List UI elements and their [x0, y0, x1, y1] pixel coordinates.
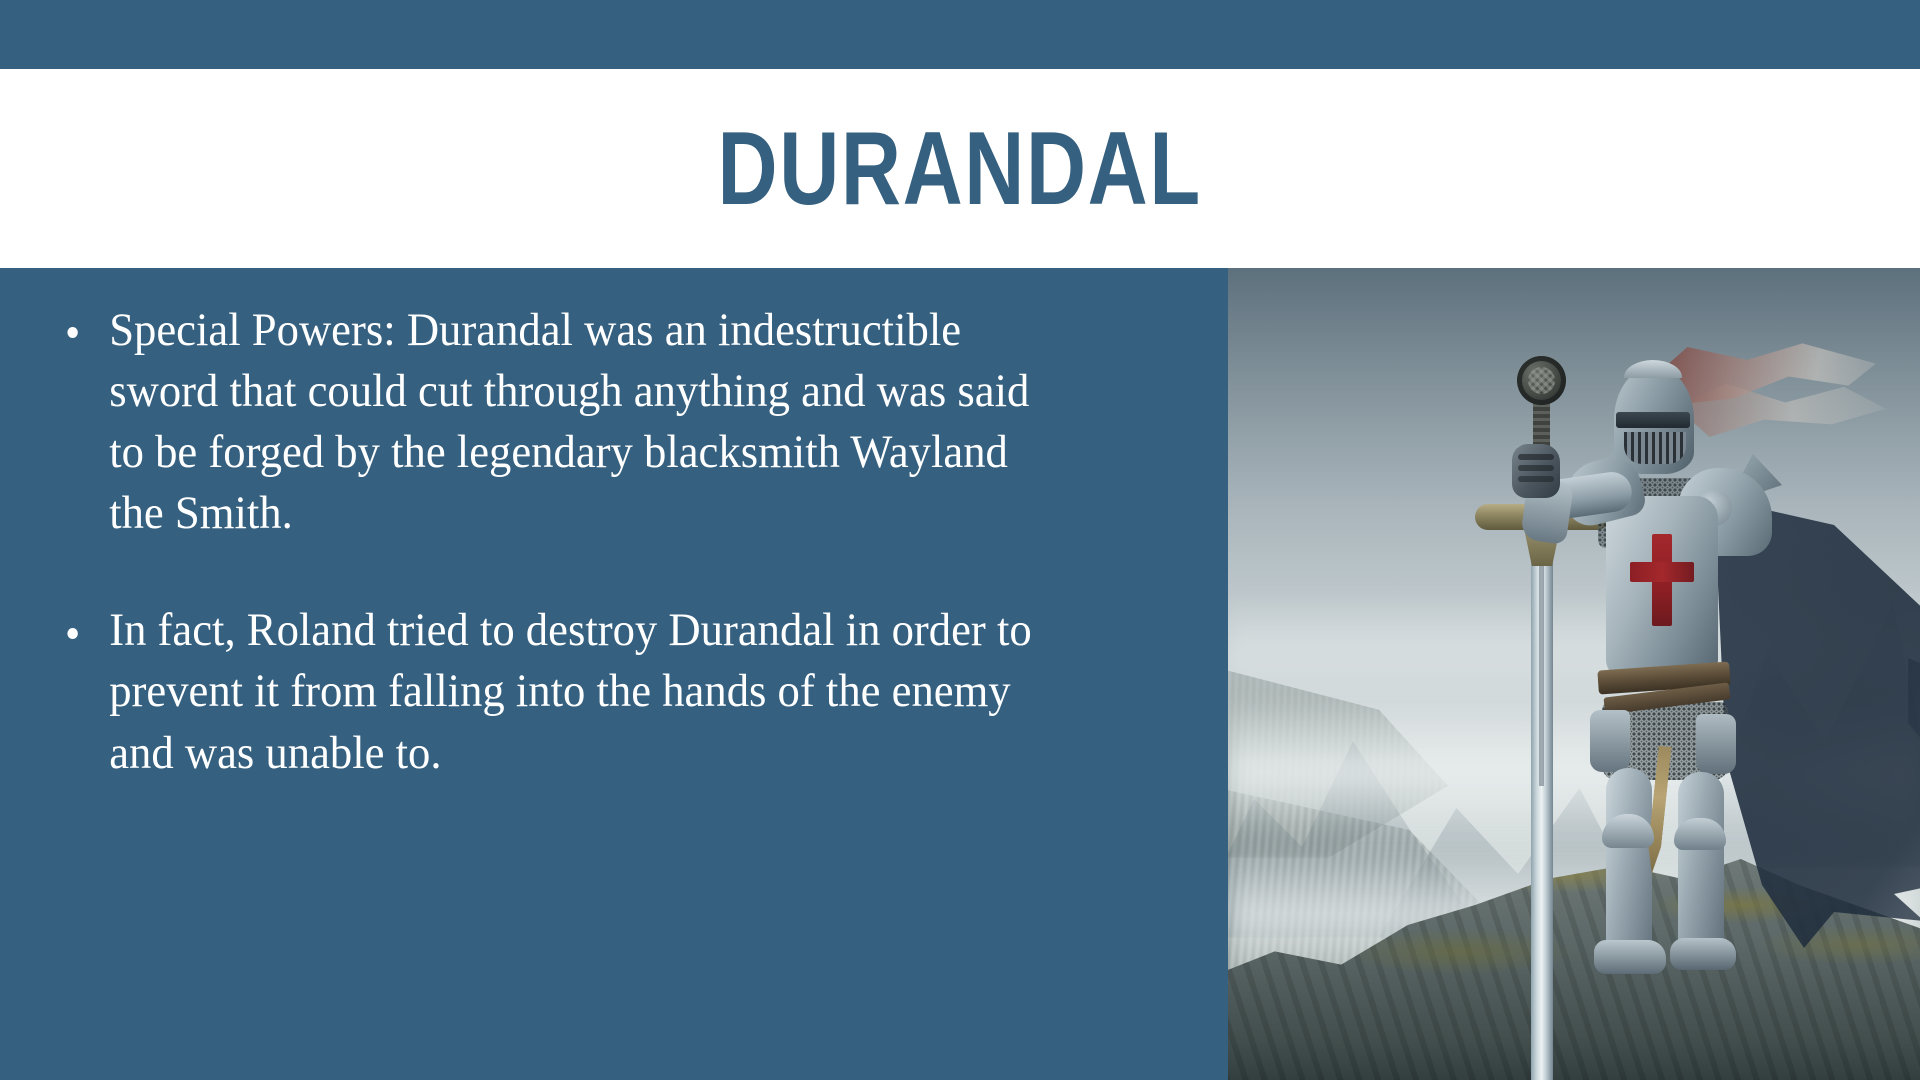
helmet-breath-grille	[1624, 432, 1686, 464]
presentation-slide: DURANDAL Special Powers: Durandal was an…	[0, 0, 1920, 1080]
right-poleyn	[1674, 818, 1726, 850]
list-item: Special Powers: Durandal was an indestru…	[56, 300, 1069, 544]
gauntlet-grip	[1512, 444, 1560, 498]
bullet-dot-icon	[67, 327, 77, 338]
left-sabaton	[1594, 940, 1666, 974]
cape	[1714, 498, 1920, 948]
right-sabaton	[1670, 938, 1736, 970]
knight-illustration	[1228, 268, 1920, 1080]
list-item-text: Special Powers: Durandal was an indestru…	[109, 304, 1029, 539]
bullet-text-column: Special Powers: Durandal was an indestru…	[0, 268, 1228, 1080]
right-greave	[1678, 772, 1724, 958]
list-item: In fact, Roland tried to destroy Duranda…	[56, 600, 1069, 783]
templar-cross-horizontal	[1630, 562, 1694, 582]
left-greave	[1606, 768, 1652, 958]
left-tasset	[1590, 710, 1630, 772]
bullet-list: Special Powers: Durandal was an indestru…	[56, 300, 1168, 784]
title-band: DURANDAL	[0, 69, 1920, 268]
knight-figure	[1528, 328, 1888, 1080]
top-accent-bar	[0, 0, 1920, 69]
right-tasset	[1696, 714, 1736, 774]
helmet-visor-slit	[1616, 412, 1690, 428]
page-title: DURANDAL	[718, 117, 1202, 221]
list-item-text: In fact, Roland tried to destroy Duranda…	[109, 604, 1032, 778]
bullet-dot-icon	[67, 628, 77, 639]
